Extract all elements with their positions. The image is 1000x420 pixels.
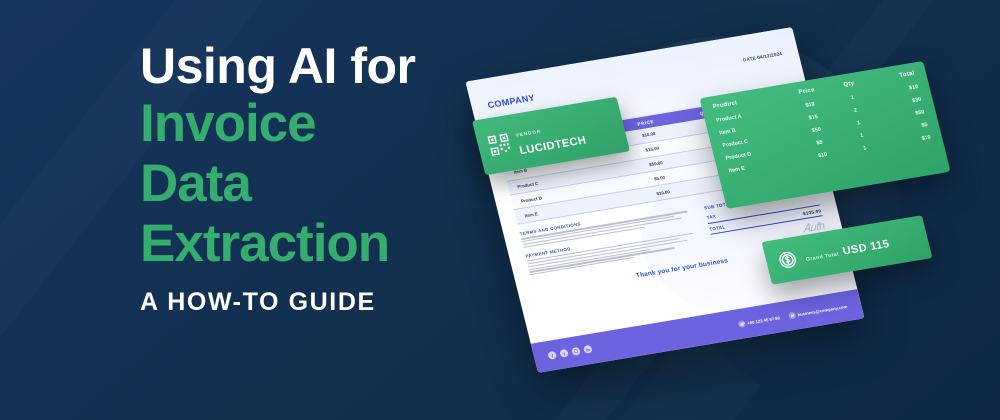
vendor-value: LUCIDTECH: [518, 134, 587, 157]
qr-code-icon: [486, 132, 513, 157]
footer-email-text: business@company.com: [797, 304, 848, 317]
tax-label: TAX: [706, 213, 717, 219]
footer-phone-text: +00 123 45 67 89: [747, 315, 781, 325]
grand-total-label: Grand Total: [805, 251, 839, 262]
headline-subtitle: A HOW-TO GUIDE: [140, 288, 500, 317]
cell-qty: 1: [846, 143, 885, 155]
invoice-artwork: COMPANY DATE 04/12/2024 INVOICE N° 12345…: [466, 22, 986, 402]
total-label: TOTAL: [709, 224, 726, 232]
coin-dollar-icon: [775, 249, 800, 272]
invoice-sheet: COMPANY DATE 04/12/2024 INVOICE N° 12345…: [465, 27, 864, 373]
headline-line-4: Extraction: [140, 214, 500, 274]
headline-line-2: Invoice: [140, 94, 500, 154]
invoice-date-label: DATE: [742, 56, 756, 63]
invoice-date: DATE 04/12/2024: [742, 51, 782, 62]
background-stripe: [0, 175, 1, 420]
total-amount: $105.00: [802, 208, 821, 216]
social-links: f t ▢ in: [547, 345, 592, 360]
tax-amount: [818, 196, 819, 201]
instagram-icon[interactable]: ▢: [571, 347, 581, 356]
cell-price: $10: [799, 149, 847, 163]
vendor-tag-text: VENDOR LUCIDTECH: [513, 108, 618, 159]
hero-banner: Using AI for Invoice Data Extraction A H…: [0, 0, 1000, 420]
phone-icon: ☏: [738, 320, 747, 328]
grand-total-value: USD 115: [841, 238, 890, 257]
footer-email: ✉ business@company.com: [788, 303, 848, 320]
footer-contact: ☏ +00 123 45 67 89 ✉ business@company.co…: [738, 303, 848, 328]
invoice-company-name: COMPANY: [487, 93, 536, 111]
vendor-label: VENDOR: [515, 129, 542, 138]
invoice-date-value: 04/12/2024: [757, 51, 783, 60]
mail-icon: ✉: [788, 311, 797, 319]
twitter-icon[interactable]: t: [559, 349, 569, 358]
headline-line-3: Data: [140, 154, 500, 214]
cell-total: $10: [883, 135, 931, 149]
headline-line-1: Using AI for: [140, 38, 500, 94]
grand-total-text: Grand Total USD 115: [803, 234, 891, 265]
headline-block: Using AI for Invoice Data Extraction A H…: [140, 38, 500, 317]
facebook-icon[interactable]: f: [547, 351, 557, 360]
footer-phone: ☏ +00 123 45 67 89: [738, 314, 781, 328]
linkedin-icon[interactable]: in: [583, 345, 593, 354]
